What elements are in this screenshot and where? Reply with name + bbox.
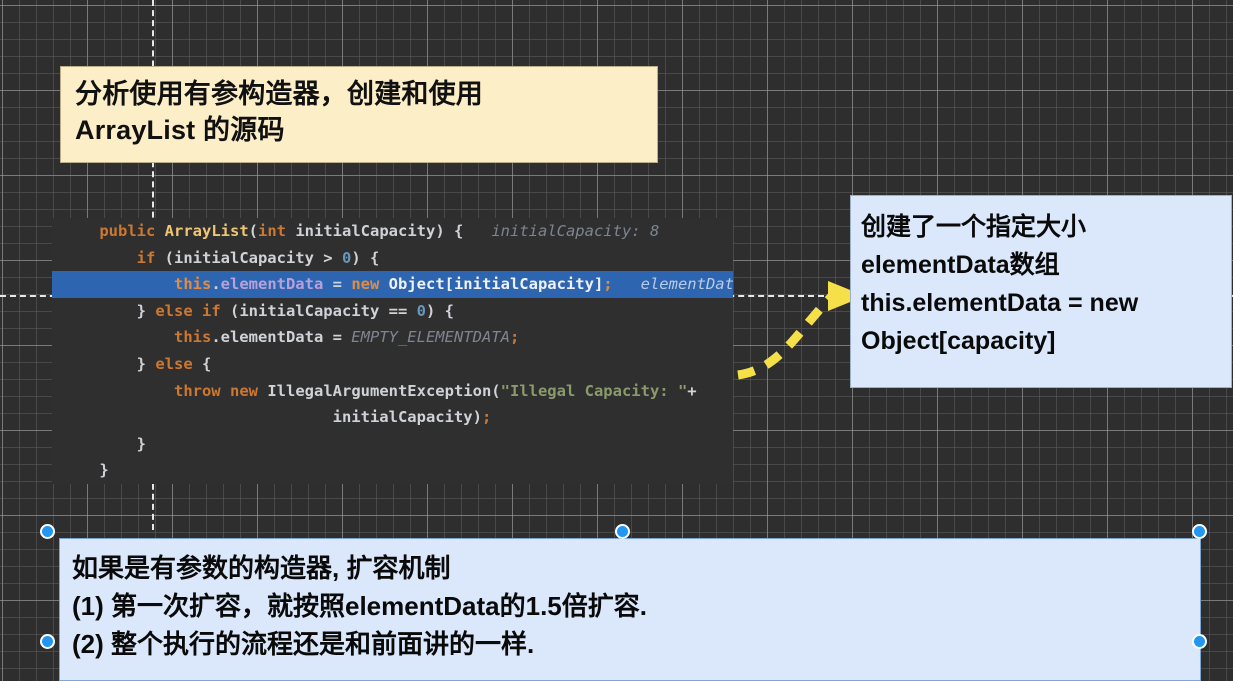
title-note-line: 分析使用有参构造器，创建和使用 (75, 76, 643, 112)
code-token: . (211, 275, 220, 293)
code-line: throw new IllegalArgumentException("Ille… (52, 378, 733, 405)
code-token: + (687, 382, 696, 400)
code-token: } (62, 302, 155, 320)
code-token: } (62, 435, 146, 453)
code-token: if (137, 249, 156, 267)
code-token: public (99, 222, 155, 240)
bottom-note-line: (1) 第一次扩容，就按照elementData的1.5倍扩容. (72, 587, 1200, 625)
handle-top-center[interactable] (615, 524, 630, 539)
code-line: } (52, 431, 733, 458)
right-note-line: Object[capacity] (861, 322, 1221, 360)
right-annotation-note[interactable]: 创建了一个指定大小 elementData数组 this.elementData… (850, 195, 1232, 388)
code-token (62, 222, 99, 240)
code-line: if (initialCapacity > 0) { (52, 245, 733, 272)
code-token: else (155, 355, 192, 373)
code-token: IllegalArgumentException( (258, 382, 501, 400)
code-token: elementDat (613, 275, 733, 293)
code-token: 0 (417, 302, 426, 320)
right-note-line: this.elementData = new (861, 284, 1221, 322)
code-token: ; (482, 408, 491, 426)
code-token: EMPTY_ELEMENTDATA (351, 328, 510, 346)
code-token: this (174, 328, 211, 346)
handle-bottom-left[interactable] (40, 634, 55, 649)
code-token (221, 382, 230, 400)
code-line: } else { (52, 351, 733, 378)
code-token: initialCapacity) (62, 408, 482, 426)
code-token: ; (603, 275, 612, 293)
title-note[interactable]: 分析使用有参构造器，创建和使用 ArrayList 的源码 (60, 66, 658, 163)
code-token: 0 (342, 249, 351, 267)
handle-top-left[interactable] (40, 524, 55, 539)
handle-top-right[interactable] (1192, 524, 1207, 539)
whiteboard-canvas[interactable]: 分析使用有参构造器，创建和使用 ArrayList 的源码 public Arr… (0, 0, 1233, 681)
code-token (379, 275, 388, 293)
code-token (62, 275, 174, 293)
right-note-line: 创建了一个指定大小 (861, 208, 1221, 246)
code-token: } (62, 355, 155, 373)
code-token: ) { (351, 249, 379, 267)
code-token: ) { (426, 302, 454, 320)
code-token (155, 222, 164, 240)
bottom-note-line: 如果是有参数的构造器, 扩容机制 (72, 549, 1200, 587)
code-token: ( (249, 222, 258, 240)
code-token: this (174, 275, 211, 293)
bottom-annotation-note[interactable]: 如果是有参数的构造器, 扩容机制 (1) 第一次扩容，就按照elementDat… (59, 538, 1201, 681)
code-line: initialCapacity); (52, 404, 733, 431)
code-line: public ArrayList(int initialCapacity) { … (52, 218, 733, 245)
code-token: "Illegal Capacity: " (501, 382, 688, 400)
bottom-note-line: (2) 整个执行的流程还是和前面讲的一样. (72, 625, 1200, 663)
right-note-line: elementData数组 (861, 246, 1221, 284)
code-token: } (62, 461, 109, 479)
code-token: { (193, 355, 212, 373)
code-token: (initialCapacity == (221, 302, 417, 320)
code-token: initialCapacity) { (286, 222, 463, 240)
code-token: else if (155, 302, 220, 320)
code-token (62, 328, 174, 346)
code-token: new (351, 275, 379, 293)
code-token: elementData (221, 275, 324, 293)
code-line: } (52, 457, 733, 484)
code-token: new (230, 382, 258, 400)
code-snippet-image[interactable]: public ArrayList(int initialCapacity) { … (52, 218, 733, 484)
code-token: initialCapacity: 8 (463, 222, 659, 240)
code-token (62, 249, 137, 267)
code-token: .elementData = (211, 328, 351, 346)
code-token: int (258, 222, 286, 240)
code-token: ; (510, 328, 519, 346)
code-token: Object[initialCapacity] (389, 275, 604, 293)
title-note-line: ArrayList 的源码 (75, 112, 643, 148)
code-token: ArrayList (165, 222, 249, 240)
code-line: this.elementData = EMPTY_ELEMENTDATA; (52, 324, 733, 351)
code-token: = (323, 275, 351, 293)
code-token (62, 382, 174, 400)
code-token: (initialCapacity > (155, 249, 342, 267)
handle-bottom-right[interactable] (1192, 634, 1207, 649)
code-token: throw (174, 382, 221, 400)
code-line: this.elementData = new Object[initialCap… (52, 271, 733, 298)
code-line: } else if (initialCapacity == 0) { (52, 298, 733, 325)
